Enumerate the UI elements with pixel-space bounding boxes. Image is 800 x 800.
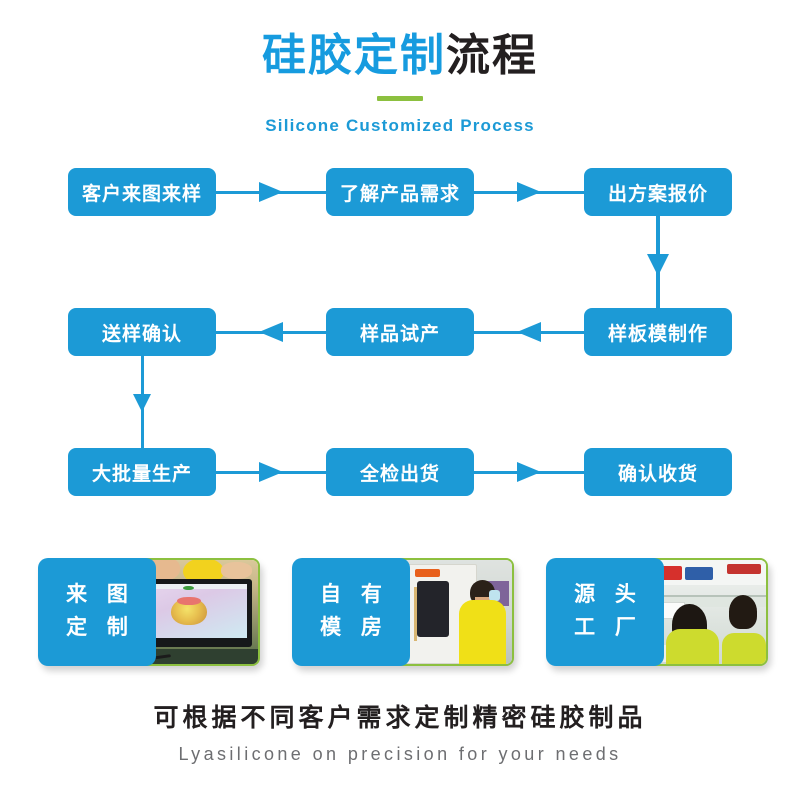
arrow-head xyxy=(517,322,541,342)
feature-card-label-line2: 模 房 xyxy=(313,612,389,645)
flow-step-label: 了解产品需求 xyxy=(340,179,460,206)
flow-step-sample-trial[interactable]: 样品试产 xyxy=(326,308,474,356)
arrow-head xyxy=(259,182,283,202)
arrow-right-icon xyxy=(474,462,584,482)
flow-step-label: 送样确认 xyxy=(102,319,182,346)
page-title: 硅胶定制流程 xyxy=(0,34,800,78)
photo-shape xyxy=(221,562,252,579)
flow-step-understand-requirements[interactable]: 了解产品需求 xyxy=(326,168,474,216)
arrow-left-icon xyxy=(216,322,326,342)
feature-card-source-factory[interactable]: 源 头 工 厂 xyxy=(546,558,768,666)
footer-tagline-en: Lyasilicone on precision for your needs xyxy=(0,744,800,765)
feature-card-label-line2: 工 厂 xyxy=(567,612,643,645)
feature-card-label-line1: 源 头 xyxy=(567,579,643,612)
flow-step-label: 出方案报价 xyxy=(608,179,708,206)
arrow-head xyxy=(517,182,541,202)
arrow-head xyxy=(133,394,151,412)
feature-card-label: 自 有 模 房 xyxy=(292,558,410,666)
flow-step-label: 全检出货 xyxy=(360,459,440,486)
arrow-down-icon xyxy=(647,216,669,308)
feature-card-label-line2: 定 制 xyxy=(59,612,135,645)
photo-shape xyxy=(183,586,194,590)
flow-step-mold-making[interactable]: 样板模制作 xyxy=(584,308,732,356)
photo-shape xyxy=(727,564,761,573)
page-footer: 可根据不同客户需求定制精密硅胶制品 Lyasilicone on precisi… xyxy=(0,698,800,765)
flow-step-label: 样品试产 xyxy=(360,319,440,346)
flow-step-label: 确认收货 xyxy=(618,459,698,486)
title-divider xyxy=(377,96,423,101)
arrow-right-icon xyxy=(474,182,584,202)
flow-step-label: 客户来图来样 xyxy=(82,179,202,206)
photo-shape xyxy=(414,587,417,642)
feature-card-label: 源 头 工 厂 xyxy=(546,558,664,666)
page-header: 硅胶定制流程 Silicone Customized Process xyxy=(0,0,800,136)
flow-step-confirm-receipt[interactable]: 确认收货 xyxy=(584,448,732,496)
page-title-rest: 流程 xyxy=(446,31,538,80)
arrow-left-icon xyxy=(474,322,584,342)
photo-shape xyxy=(666,629,719,664)
photo-shape xyxy=(722,633,766,664)
flow-step-customer-drawing[interactable]: 客户来图来样 xyxy=(68,168,216,216)
flow-step-label: 大批量生产 xyxy=(92,459,192,486)
arrow-right-icon xyxy=(216,462,326,482)
feature-card-drawing-custom[interactable]: 来 图 定 制 xyxy=(38,558,260,666)
flow-step-quotation[interactable]: 出方案报价 xyxy=(584,168,732,216)
process-flowchart: 客户来图来样 了解产品需求 出方案报价 送样确认 样品试产 样板模制作 大批量生… xyxy=(0,168,800,518)
page-title-highlight: 硅胶定制 xyxy=(262,31,446,80)
photo-shape xyxy=(417,581,448,638)
arrow-head xyxy=(647,254,669,276)
flow-step-sample-confirmation[interactable]: 送样确认 xyxy=(68,308,216,356)
photo-shape xyxy=(459,600,506,664)
flow-step-mass-production[interactable]: 大批量生产 xyxy=(68,448,216,496)
feature-card-label: 来 图 定 制 xyxy=(38,558,156,666)
flow-step-label: 样板模制作 xyxy=(608,319,708,346)
photo-shape xyxy=(415,569,440,577)
arrow-right-icon xyxy=(216,182,326,202)
photo-shape xyxy=(685,567,713,579)
feature-cards: 来 图 定 制 自 有 模 房 xyxy=(0,558,800,676)
arrow-head xyxy=(259,462,283,482)
photo-shape xyxy=(729,595,757,628)
page-subtitle: Silicone Customized Process xyxy=(0,116,800,136)
arrow-head xyxy=(259,322,283,342)
arrow-down-icon xyxy=(133,356,151,448)
feature-card-label-line1: 来 图 xyxy=(59,579,135,612)
arrow-head xyxy=(517,462,541,482)
photo-shape xyxy=(489,590,500,600)
feature-card-label-line1: 自 有 xyxy=(313,579,389,612)
feature-card-own-moldroom[interactable]: 自 有 模 房 xyxy=(292,558,514,666)
flow-step-full-inspection-shipping[interactable]: 全检出货 xyxy=(326,448,474,496)
footer-tagline-cn: 可根据不同客户需求定制精密硅胶制品 xyxy=(0,698,800,734)
